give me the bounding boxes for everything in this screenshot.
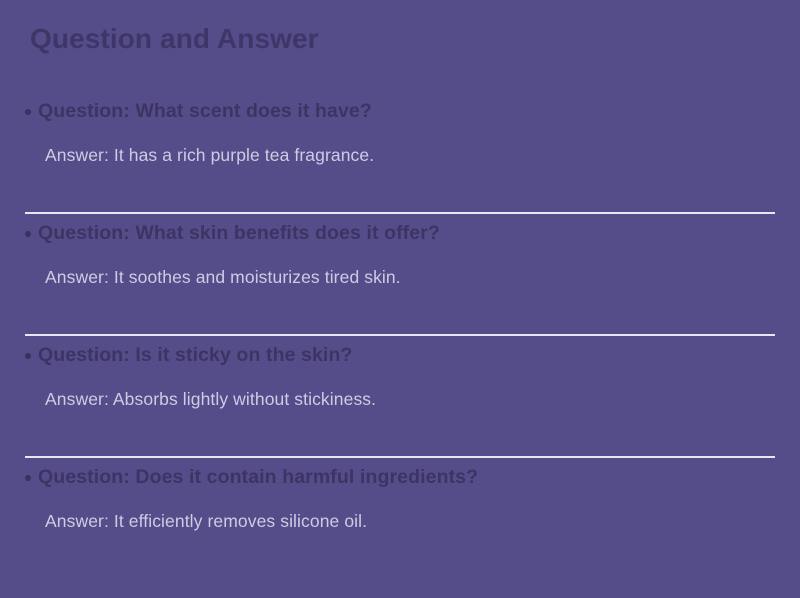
page-title: Question and Answer bbox=[30, 21, 319, 57]
answer-text: Answer: Absorbs lightly without stickine… bbox=[45, 389, 376, 409]
bullet-dot-icon bbox=[25, 231, 31, 237]
question-row: Question: Does it contain harmful ingred… bbox=[0, 458, 800, 490]
question-text: Question: What scent does it have? bbox=[38, 100, 372, 122]
bullet-dot-icon bbox=[25, 475, 31, 481]
question-text: Question: Is it sticky on the skin? bbox=[38, 344, 352, 366]
bullet-dot-icon bbox=[25, 109, 31, 115]
question-text: Question: Does it contain harmful ingred… bbox=[38, 466, 478, 488]
question-row: Question: What skin benefits does it off… bbox=[0, 214, 800, 246]
bullet-dot-icon bbox=[25, 353, 31, 359]
answer-row: Answer: It soothes and moisturizes tired… bbox=[0, 246, 800, 289]
qa-list: Question: What scent does it have? Answe… bbox=[0, 92, 800, 580]
qa-item-3: Question: Is it sticky on the skin? Answ… bbox=[0, 336, 800, 458]
qa-item-1: Question: What scent does it have? Answe… bbox=[0, 92, 800, 214]
question-text: Question: What skin benefits does it off… bbox=[38, 222, 440, 244]
answer-text: Answer: It soothes and moisturizes tired… bbox=[45, 267, 401, 287]
answer-row: Answer: Absorbs lightly without stickine… bbox=[0, 368, 800, 411]
qa-item-2: Question: What skin benefits does it off… bbox=[0, 214, 800, 336]
qa-item-4: Question: Does it contain harmful ingred… bbox=[0, 458, 800, 580]
answer-text: Answer: It efficiently removes silicone … bbox=[45, 511, 367, 531]
answer-row: Answer: It has a rich purple tea fragran… bbox=[0, 124, 800, 167]
answer-text: Answer: It has a rich purple tea fragran… bbox=[45, 145, 374, 165]
question-row: Question: Is it sticky on the skin? bbox=[0, 336, 800, 368]
answer-row: Answer: It efficiently removes silicone … bbox=[0, 490, 800, 533]
question-row: Question: What scent does it have? bbox=[0, 92, 800, 124]
qa-slide: Question and Answer Question: What scent… bbox=[0, 0, 800, 598]
